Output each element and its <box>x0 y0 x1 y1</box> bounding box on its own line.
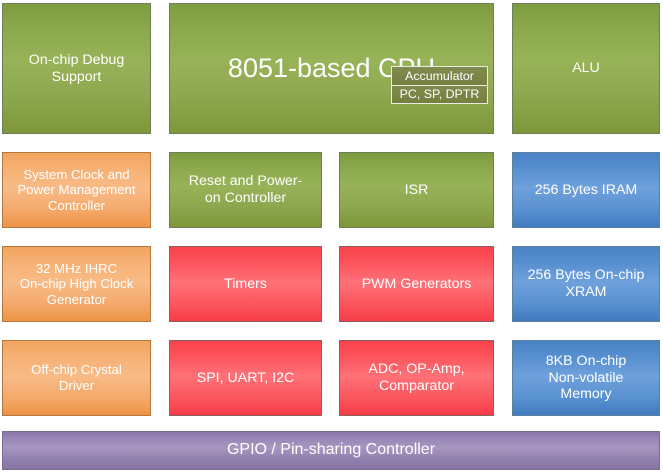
block-reset-power-on-controller[interactable]: Reset and Power- on Controller <box>169 152 322 228</box>
cpu-register-label: PC, SP, DPTR <box>400 88 480 100</box>
block-label: On-chip Debug Support <box>3 52 150 86</box>
block-serial-interfaces[interactable]: SPI, UART, I2C <box>169 340 322 416</box>
block-gpio-pin-sharing-controller[interactable]: GPIO / Pin-sharing Controller <box>2 431 660 470</box>
block-label: SPI, UART, I2C <box>170 370 321 387</box>
block-label: 256 Bytes IRAM <box>513 182 659 199</box>
block-label: ADC, OP-Amp, Comparator <box>340 361 493 395</box>
cpu-register-pc-sp-dptr[interactable]: PC, SP, DPTR <box>391 86 488 105</box>
block-alu[interactable]: ALU <box>512 3 660 134</box>
block-off-chip-crystal-driver[interactable]: Off-chip Crystal Driver <box>2 340 151 416</box>
block-label: 8KB On-chip Non-volatile Memory <box>513 353 659 403</box>
block-ihrc-clock-generator[interactable]: 32 MHz IHRC On-chip High Clock Generator <box>2 246 151 322</box>
cpu-register-label: Accumulator <box>405 70 474 82</box>
block-label: ISR <box>340 182 493 199</box>
block-label: GPIO / Pin-sharing Controller <box>3 441 659 460</box>
block-label: 32 MHz IHRC On-chip High Clock Generator <box>3 261 150 308</box>
block-diagram-canvas: On-chip Debug Support 8051-based CPU Acc… <box>0 0 663 474</box>
block-label: PWM Generators <box>340 276 493 293</box>
block-analog-peripherals[interactable]: ADC, OP-Amp, Comparator <box>339 340 494 416</box>
block-cpu[interactable]: 8051-based CPU Accumulator PC, SP, DPTR <box>169 3 494 134</box>
cpu-register-accumulator[interactable]: Accumulator <box>391 66 488 86</box>
block-label: System Clock and Power Management Contro… <box>3 167 150 214</box>
block-label: Reset and Power- on Controller <box>170 173 321 207</box>
block-timers[interactable]: Timers <box>169 246 322 322</box>
block-pwm-generators[interactable]: PWM Generators <box>339 246 494 322</box>
block-xram[interactable]: 256 Bytes On-chip XRAM <box>512 246 660 322</box>
block-label: Off-chip Crystal Driver <box>3 362 150 393</box>
block-label: 256 Bytes On-chip XRAM <box>513 267 659 301</box>
block-isr[interactable]: ISR <box>339 152 494 228</box>
block-non-volatile-memory[interactable]: 8KB On-chip Non-volatile Memory <box>512 340 660 416</box>
block-on-chip-debug-support[interactable]: On-chip Debug Support <box>2 3 151 134</box>
block-iram[interactable]: 256 Bytes IRAM <box>512 152 660 228</box>
block-label: ALU <box>513 60 659 77</box>
block-system-clock-power[interactable]: System Clock and Power Management Contro… <box>2 152 151 228</box>
cpu-register-group: Accumulator PC, SP, DPTR <box>391 66 488 104</box>
block-label: Timers <box>170 276 321 293</box>
